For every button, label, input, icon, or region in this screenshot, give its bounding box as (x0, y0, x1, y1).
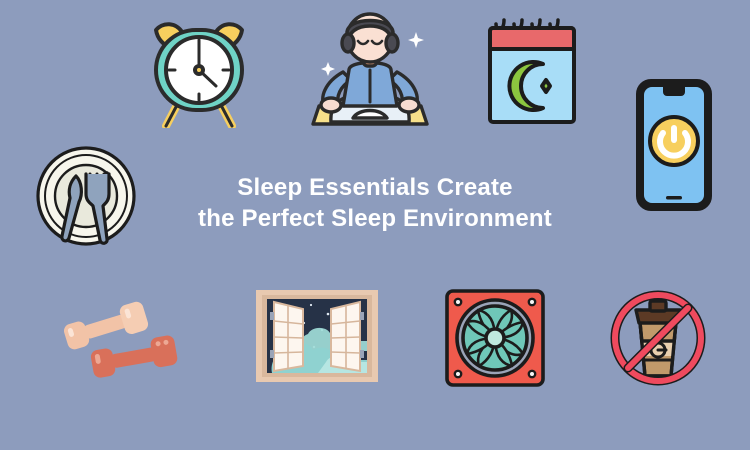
open-window-night-icon (256, 290, 378, 382)
calendar-moon-icon (484, 16, 582, 126)
no-caffeine-icon (606, 288, 710, 388)
alarm-clock-icon (142, 12, 256, 128)
fan-icon (444, 288, 546, 388)
poster-canvas: Sleep Essentials Create the Perfect Slee… (0, 0, 750, 450)
page-title-line2: the Perfect Sleep Environment (0, 203, 750, 234)
dumbbells-icon (52, 292, 192, 388)
meditating-person-icon (305, 10, 435, 132)
page-title-line1: Sleep Essentials Create (0, 172, 750, 203)
page-title: Sleep Essentials Create the Perfect Slee… (0, 172, 750, 234)
